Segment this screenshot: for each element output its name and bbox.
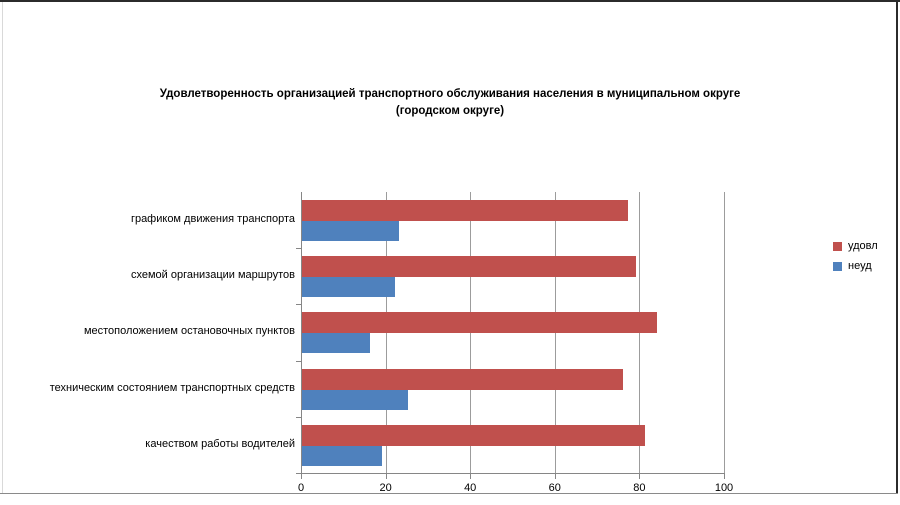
x-tick-mark-0 bbox=[301, 473, 302, 479]
chart-title: Удовлетворенность организацией транспорт… bbox=[60, 86, 840, 120]
y-axis-category-label: схемой организации маршрутов bbox=[0, 269, 295, 281]
y-axis-category-label: графиком движения транспорта bbox=[0, 213, 295, 225]
bar-удовл-5[interactable] bbox=[302, 425, 645, 446]
chart-category-row: схемой организации маршрутов bbox=[301, 248, 724, 304]
legend-label-neud: неуд bbox=[848, 260, 872, 272]
bar-неуд-3[interactable] bbox=[302, 333, 370, 353]
legend-swatch-icon-udovl bbox=[833, 242, 842, 251]
x-axis-line bbox=[301, 473, 724, 474]
x-tick-label-100: 100 bbox=[715, 482, 733, 494]
bar-неуд-2[interactable] bbox=[302, 277, 395, 297]
x-tick-mark-40 bbox=[470, 473, 471, 479]
x-tick-label-60: 60 bbox=[549, 482, 561, 494]
chart-category-row: графиком движения транспорта bbox=[301, 192, 724, 248]
x-tick-label-20: 20 bbox=[379, 482, 391, 494]
plot-area: 020406080100 графиком движения транспорт… bbox=[301, 192, 724, 473]
x-tick-mark-60 bbox=[555, 473, 556, 479]
chart-category-row: местоположением остановочных пунктов bbox=[301, 304, 724, 360]
chart-frame-right-border bbox=[896, 0, 898, 494]
chart-legend: удовл неуд bbox=[833, 236, 895, 276]
chart-category-row: качеством работы водителей bbox=[301, 417, 724, 473]
bar-удовл-4[interactable] bbox=[302, 369, 623, 390]
y-axis-category-label: местоположением остановочных пунктов bbox=[0, 325, 295, 337]
bar-удовл-1[interactable] bbox=[302, 200, 628, 221]
legend-item-udovl[interactable]: удовл bbox=[833, 236, 895, 256]
y-axis-category-label: качеством работы водителей bbox=[0, 438, 295, 450]
chart-frame-top-border bbox=[0, 0, 900, 2]
chart-category-row: техническим состоянием транспортных сред… bbox=[301, 361, 724, 417]
chart-frame-bottom-border bbox=[0, 493, 898, 494]
x-tick-mark-20 bbox=[386, 473, 387, 479]
legend-item-neud[interactable]: неуд bbox=[833, 256, 895, 276]
y-tick-mark bbox=[296, 473, 301, 474]
chart-title-line-2: (городском округе) bbox=[60, 103, 840, 120]
legend-swatch-icon-neud bbox=[833, 262, 842, 271]
x-tick-mark-100 bbox=[724, 473, 725, 479]
legend-label-udovl: удовл bbox=[848, 240, 878, 252]
bar-неуд-1[interactable] bbox=[302, 221, 399, 241]
chart-title-line-1: Удовлетворенность организацией транспорт… bbox=[160, 88, 741, 100]
y-axis-category-label: техническим состоянием транспортных сред… bbox=[0, 382, 295, 394]
x-tick-mark-80 bbox=[639, 473, 640, 479]
x-tick-label-40: 40 bbox=[464, 482, 476, 494]
x-tick-label-0: 0 bbox=[298, 482, 304, 494]
bar-удовл-2[interactable] bbox=[302, 256, 636, 277]
x-tick-label-80: 80 bbox=[633, 482, 645, 494]
chart-screenshot: Удовлетворенность организацией транспорт… bbox=[0, 0, 900, 505]
bar-неуд-4[interactable] bbox=[302, 390, 408, 410]
bar-неуд-5[interactable] bbox=[302, 446, 382, 466]
gridline-x-100 bbox=[724, 192, 725, 473]
bar-удовл-3[interactable] bbox=[302, 312, 657, 333]
chart-frame-left-border bbox=[2, 2, 3, 493]
